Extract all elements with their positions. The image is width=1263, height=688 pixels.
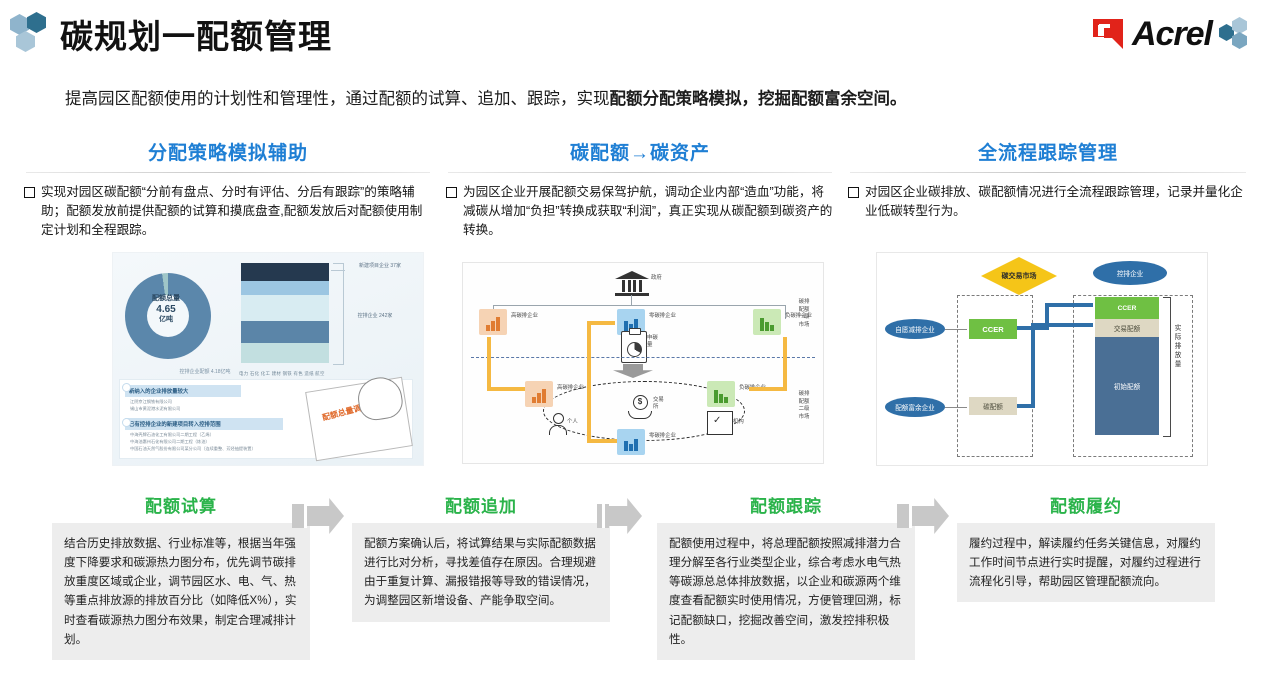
process-arrow-3 [897, 498, 949, 534]
acrel-hexagon-icon [1219, 19, 1249, 49]
process-step-2: 配额追加 配额方案确认后，将试算结果与实际配额数据进行比对分析，寻找差值存在原因… [352, 492, 610, 622]
label-primary-market: 碳排配额一级市场 [797, 299, 811, 329]
label-exchange: 交易所 [653, 397, 667, 411]
ccer-source-box: CCER [969, 319, 1017, 339]
process-3-body: 配额使用过程中，将总理配额按照减排潜力合理分解至各行业类型企业，综合考虑水电气热… [657, 523, 915, 660]
yellow-flow-arrow [587, 439, 617, 443]
voluntary-enterprise-oval: 自愿减排企业 [885, 319, 945, 339]
step-dot-icon [122, 418, 131, 427]
clipboard-report-icon [621, 331, 647, 363]
column-1-bullet: 实现对园区碳配额“分前有盘点、分时有评估、分后有跟踪”的策略辅助；配额发放前提供… [18, 183, 438, 240]
acrel-square-mark-icon [1091, 17, 1125, 51]
node-negative-carbon-secondary [707, 381, 735, 407]
blue-flow-arrow [1031, 323, 1035, 408]
label-high-carbon-secondary: 高碳排企业 [557, 385, 587, 392]
process-1-title: 配额试算 [52, 492, 310, 517]
controlled-enterprise-oval: 控排企业 [1093, 261, 1167, 285]
column-2-bullet-text: 为园区企业开展配额交易保驾护航，调动企业内部“造血”功能，将减碳从增加“负担”转… [463, 183, 834, 240]
process-2-body: 配额方案确认后，将试算结果与实际配额数据进行比对分析，寻找差值存在原因。合理规避… [352, 523, 610, 622]
donut-side-note: 控排企业配额 4.18亿吨 [165, 369, 245, 376]
connector-arrow [945, 329, 967, 330]
label-zero-carbon-secondary: 零碳排企业 [649, 433, 679, 440]
hexagon-logo-icon [10, 14, 54, 54]
figure-trading-flow: 碳交易市场 控排企业 自愿减排企业 配额富余企业 CCER 碳配额 CCER 交… [876, 252, 1208, 466]
yellow-flow-arrow [587, 321, 591, 443]
process-4-body: 履约过程中，解读履约任务关键信息，对履约工作时间节点进行实时提醒，对履约过程进行… [957, 523, 1215, 602]
column-1-bullet-text: 实现对园区碳配额“分前有盘点、分时有评估、分后有跟踪”的策略辅助；配额发放前提供… [41, 183, 432, 240]
exchange-money-icon: $ [628, 395, 652, 417]
market-divider [471, 357, 815, 358]
government-label: 政府 [651, 275, 662, 282]
donut-value: 4.65 [134, 304, 198, 317]
column-allocation-strategy: 分配策略模拟辅助 实现对园区碳配额“分前有盘点、分时有评估、分后有跟踪”的策略辅… [18, 138, 438, 240]
panel-title-1: 新纳入的企业排放量较大 [125, 385, 241, 397]
column-2-bullet: 为园区企业开展配额交易保驾护航，调动企业内部“造血”功能，将减碳从增加“负担”转… [440, 183, 840, 240]
column-full-process-tracking: 全流程跟踪管理 对园区企业碳排放、碳配额情况进行全流程跟踪管理，记录并量化企业低… [842, 138, 1254, 221]
column-1-heading: 分配策略模拟辅助 [18, 138, 438, 172]
stack-segment [241, 343, 329, 363]
hand-icon [355, 374, 405, 422]
institution-icon [707, 411, 733, 435]
process-arrow-1 [292, 498, 344, 534]
surplus-enterprise-oval: 配额富余企业 [885, 397, 945, 417]
process-step-3: 配额跟踪 配额使用过程中，将总理配额按照减排潜力合理分解至各行业类型企业，综合考… [657, 492, 915, 660]
connector-arrow [945, 407, 967, 408]
figure-carbon-market-flow: 政府 高碳排企业 零碳排企业 负碳排企业 碳排配额一级市场 申碳量 高碳排企业 … [462, 262, 824, 464]
column-3-bullet: 对园区企业碳排放、碳配额情况进行全流程跟踪管理，记录并量化企业低碳转型行为。 [842, 183, 1254, 221]
panel-title-2: 已有控排企业的新建项目转入控排范围 [125, 418, 283, 430]
process-step-1: 配额试算 结合历史排放数据、行业标准等，根据当年强度下降要求和碳源热力图分布，优… [52, 492, 310, 660]
quota-source-box: 碳配额 [969, 397, 1017, 415]
label-zero-carbon-primary: 零碳排企业 [649, 313, 679, 320]
surplus-enterprise-label: 配额富余企业 [895, 402, 935, 412]
column-3-divider [850, 172, 1246, 173]
figure-quota-dashboard: 配额总量 4.65 亿吨 控排企业配额 4.18亿吨 电力 石化 化工 建材 钢… [112, 252, 424, 466]
yellow-flow-arrow [783, 337, 787, 391]
page-header: 碳规划一配额管理 Acrel [0, 0, 1263, 72]
connector-tick [631, 295, 632, 305]
stack-initial-quota: 初始配额 [1095, 337, 1159, 435]
actual-emission-label: 实际排放量 [1173, 325, 1183, 369]
node-high-carbon-secondary [525, 381, 553, 407]
bullet-square-icon [24, 187, 35, 198]
process-arrow-2 [597, 498, 649, 534]
process-1-body: 结合历史排放数据、行业标准等，根据当年强度下降要求和碳源热力图分布，优先调节碳排… [52, 523, 310, 660]
emission-stack-bar: CCER 交易配额 初始配额 [1095, 297, 1159, 435]
page-subtitle: 提高园区配额使用的计划性和管理性，通过配额的试算、追加、跟踪，实现配额分配策略模… [65, 88, 1215, 111]
node-zero-carbon-secondary [617, 429, 645, 455]
subtitle-emphasis: 配额分配策略模拟，挖掘配额富余空间。 [610, 90, 907, 108]
acrel-logo: Acrel [1091, 12, 1249, 56]
process-step-4: 配额履约 履约过程中，解读履约任务关键信息，对履约工作时间节点进行实时提醒，对履… [957, 492, 1215, 602]
donut-label-text: 配额总量 [134, 295, 198, 304]
carbon-market-label: 碳交易市场 [1002, 271, 1037, 281]
process-3-title: 配额跟踪 [657, 492, 915, 517]
step-dot-icon [122, 383, 131, 392]
ccer-source-label: CCER [982, 325, 1003, 334]
government-building-icon [615, 271, 649, 295]
yellow-flow-arrow [487, 337, 491, 391]
dashboard-detail-panel: 新纳入的企业排放量较大 江阴京江钢铁有限公司 锡山市黄泥港水泥有限公司 已有控排… [119, 379, 413, 459]
bullet-square-icon [848, 187, 859, 198]
stack-segment [241, 281, 329, 295]
individual-icon [549, 413, 567, 435]
label-institution: 机构 [733, 419, 747, 426]
down-arrow-icon [613, 364, 653, 378]
acrel-wordmark: Acrel [1132, 17, 1212, 51]
node-negative-carbon-primary [753, 309, 781, 335]
donut-unit: 亿吨 [134, 316, 198, 325]
quota-source-label: 碳配额 [983, 401, 1003, 411]
column-3-bullet-text: 对园区企业碳排放、碳配额情况进行全流程跟踪管理，记录并量化企业低碳转型行为。 [865, 183, 1248, 221]
yellow-flow-arrow [487, 387, 525, 391]
voluntary-enterprise-label: 自愿减排企业 [895, 324, 935, 334]
stack-traded-quota: 交易配额 [1095, 319, 1159, 337]
process-2-title: 配额追加 [352, 492, 610, 517]
stack-legend: 电力 石化 化工 建材 钢铁 有色 造纸 航空 [239, 371, 331, 377]
label-secondary-market: 碳排配额二级市场 [797, 391, 811, 421]
page-title: 碳规划一配额管理 [60, 10, 332, 58]
stack-segment [241, 263, 329, 281]
column-3-heading: 全流程跟踪管理 [842, 138, 1254, 172]
yellow-flow-arrow [587, 321, 615, 325]
subtitle-plain: 提高园区配额使用的计划性和管理性，通过配额的试算、追加、跟踪，实现 [65, 90, 610, 108]
column-2-divider [448, 172, 832, 173]
blue-flow-arrow [1045, 303, 1093, 307]
column-1-divider [26, 172, 430, 173]
brace-bracket [333, 263, 344, 365]
bullet-square-icon [446, 187, 457, 198]
blue-flow-arrow [1031, 323, 1093, 327]
stack-ccer: CCER [1095, 297, 1159, 319]
column-carbon-asset: 碳配额→碳资产 为园区企业开展配额交易保驾护航，调动企业内部“造血”功能，将减碳… [440, 138, 840, 240]
stack-segment [241, 321, 329, 343]
label-declared-carbon: 申碳量 [647, 335, 661, 349]
yellow-flow-arrow [749, 387, 787, 391]
node-high-carbon-primary [479, 309, 507, 335]
primary-connector-line [493, 305, 785, 306]
emission-brace [1163, 297, 1171, 437]
label-high-carbon-primary: 高碳排企业 [511, 313, 541, 320]
stacked-bar [241, 263, 329, 363]
column-2-heading: 碳配额→碳资产 [440, 138, 840, 172]
controlled-enterprise-label: 控排企业 [1117, 268, 1143, 278]
process-4-title: 配额履约 [957, 492, 1215, 517]
annotation-new-projects: 新建项目企业 37家 [347, 263, 413, 270]
stack-segment [241, 295, 329, 321]
annotation-controlled-firms: 控排企业 242家 [347, 313, 403, 320]
label-individual: 个人 [567, 419, 581, 426]
donut-center-label: 配额总量 4.65 亿吨 [134, 295, 198, 325]
carbon-market-diamond: 碳交易市场 [981, 257, 1057, 295]
